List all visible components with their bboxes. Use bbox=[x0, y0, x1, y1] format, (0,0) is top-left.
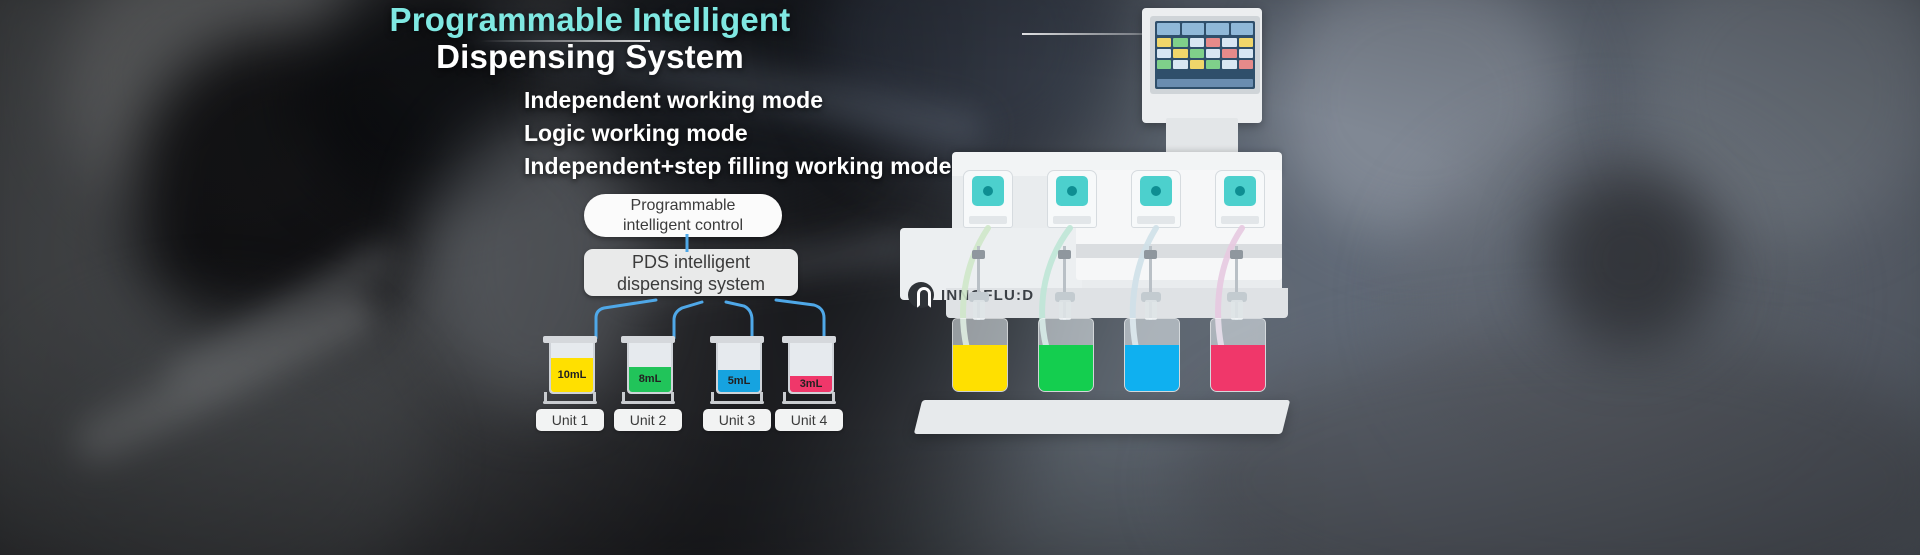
flow-node-system-line2: dispensing system bbox=[617, 273, 765, 295]
flow-node-control-line2: intelligent control bbox=[623, 216, 743, 236]
hero-banner: Programmable Intelligent Dispensing Syst… bbox=[0, 0, 1920, 555]
feature-item-3: Independent+step filling working mode bbox=[524, 150, 1144, 183]
unit-label-4[interactable]: Unit 4 bbox=[775, 409, 843, 431]
flow-node-system[interactable]: PDS intelligent dispensing system bbox=[584, 249, 798, 296]
unit-label-1[interactable]: Unit 1 bbox=[536, 409, 604, 431]
beaker-rim bbox=[543, 336, 597, 343]
beaker-stand bbox=[621, 392, 675, 403]
beaker-body: 3mL bbox=[788, 343, 834, 394]
beaker-rim bbox=[782, 336, 836, 343]
flow-node-control-line1: Programmable bbox=[623, 196, 743, 216]
flow-node-system-line1: PDS intelligent bbox=[617, 251, 765, 273]
beaker-rim bbox=[710, 336, 764, 343]
beaker-stand bbox=[543, 392, 597, 403]
headline-line-2: Dispensing System bbox=[0, 38, 1180, 76]
beaker-stand bbox=[710, 392, 764, 403]
beaker-liquid-2: 8mL bbox=[629, 367, 671, 392]
beaker-liquid-1: 10mL bbox=[551, 358, 593, 392]
feature-item-2: Logic working mode bbox=[524, 117, 1144, 150]
feature-list: Independent working mode Logic working m… bbox=[524, 84, 1144, 183]
beaker-body: 10mL bbox=[549, 343, 595, 394]
unit-label-2[interactable]: Unit 2 bbox=[614, 409, 682, 431]
beaker-liquid-3: 5mL bbox=[718, 370, 760, 392]
unit-label-3[interactable]: Unit 3 bbox=[703, 409, 771, 431]
beaker-liquid-4: 3mL bbox=[790, 376, 832, 392]
beaker-rim bbox=[621, 336, 675, 343]
feature-item-1: Independent working mode bbox=[524, 84, 1144, 117]
beaker-body: 5mL bbox=[716, 343, 762, 394]
headline-block: Programmable Intelligent Dispensing Syst… bbox=[0, 0, 1180, 76]
beaker-stand bbox=[782, 392, 836, 403]
beaker-body: 8mL bbox=[627, 343, 673, 394]
headline-line-1: Programmable Intelligent bbox=[0, 2, 1180, 38]
flow-node-control[interactable]: Programmable intelligent control bbox=[584, 194, 782, 237]
